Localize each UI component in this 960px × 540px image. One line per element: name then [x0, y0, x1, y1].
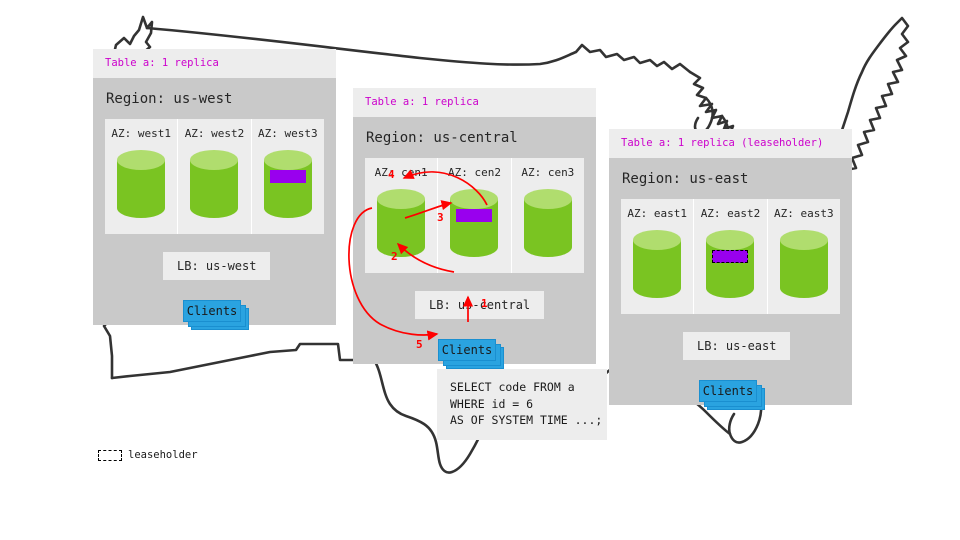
node-cylinder-east3: [778, 228, 830, 300]
az-cen2: AZ: cen2: [438, 158, 511, 273]
region-body-us-central: Region: us-central AZ: cen1 AZ:: [353, 117, 596, 364]
region-body-us-west: Region: us-west AZ: west1 AZ: we: [93, 78, 336, 325]
legend-leaseholder: leaseholder: [98, 449, 198, 461]
clients-label-us-east[interactable]: Clients: [699, 380, 757, 402]
node-cylinder-cen1: [375, 187, 427, 259]
legend-label: leaseholder: [128, 449, 198, 461]
clients-stack-us-west[interactable]: Clients: [183, 300, 249, 330]
node-cylinder-cen2: [448, 187, 500, 259]
az-label-east2: AZ: east2: [694, 207, 766, 220]
az-west2: AZ: west2: [178, 119, 251, 234]
region-panel-us-central: Table a: 1 replica Region: us-central AZ…: [353, 88, 596, 364]
node-cylinder-west3: [262, 148, 314, 220]
clients-label-us-central[interactable]: Clients: [438, 339, 496, 361]
load-balancer-us-east[interactable]: LB: us-east: [683, 332, 790, 360]
az-label-west3: AZ: west3: [252, 127, 324, 140]
node-cylinder-east2: [704, 228, 756, 300]
region-title-us-central: Region: us-central: [353, 117, 596, 158]
az-label-east1: AZ: east1: [621, 207, 693, 220]
node-cylinder-west1: [115, 148, 167, 220]
replica-marker-cen2: [456, 209, 492, 222]
region-body-us-east: Region: us-east AZ: east1 AZ: ea: [609, 158, 852, 405]
az-east3: AZ: east3: [768, 199, 840, 314]
az-label-cen2: AZ: cen2: [438, 166, 510, 179]
az-row-us-central: AZ: cen1 AZ: cen2: [365, 158, 584, 273]
arrow-label-1: 1: [481, 297, 488, 310]
arrow-label-4: 4: [388, 168, 395, 181]
region-banner-us-east: Table a: 1 replica (leaseholder): [609, 129, 852, 158]
replica-marker-west3: [270, 170, 306, 183]
region-banner-us-central: Table a: 1 replica: [353, 88, 596, 117]
clients-stack-us-central[interactable]: Clients: [438, 339, 504, 369]
az-label-west1: AZ: west1: [105, 127, 177, 140]
az-label-west2: AZ: west2: [178, 127, 250, 140]
load-balancer-us-central[interactable]: LB: us-central: [415, 291, 544, 319]
arrow-label-5: 5: [416, 338, 423, 351]
region-panel-us-west: Table a: 1 replica Region: us-west AZ: w…: [93, 49, 336, 325]
node-cylinder-cen3: [522, 187, 574, 259]
az-row-us-east: AZ: east1 AZ: east2: [621, 199, 840, 314]
az-east2: AZ: east2: [694, 199, 767, 314]
arrow-label-3: 3: [437, 211, 444, 224]
az-west3: AZ: west3: [252, 119, 324, 234]
load-balancer-us-west[interactable]: LB: us-west: [163, 252, 270, 280]
clients-stack-us-east[interactable]: Clients: [699, 380, 765, 410]
region-title-us-east: Region: us-east: [609, 158, 852, 199]
clients-label-us-west[interactable]: Clients: [183, 300, 241, 322]
az-label-cen1: AZ: cen1: [365, 166, 437, 179]
az-cen3: AZ: cen3: [512, 158, 584, 273]
az-west1: AZ: west1: [105, 119, 178, 234]
region-panel-us-east: Table a: 1 replica (leaseholder) Region:…: [609, 129, 852, 405]
sql-query-box: SELECT code FROM a WHERE id = 6 AS OF SY…: [437, 369, 607, 440]
arrow-label-2: 2: [391, 250, 398, 263]
az-row-us-west: AZ: west1 AZ: west2: [105, 119, 324, 234]
az-cen1: AZ: cen1: [365, 158, 438, 273]
az-east1: AZ: east1: [621, 199, 694, 314]
az-label-cen3: AZ: cen3: [512, 166, 584, 179]
region-title-us-west: Region: us-west: [93, 78, 336, 119]
node-cylinder-east1: [631, 228, 683, 300]
leaseholder-swatch-icon: [98, 450, 122, 461]
diagram-canvas: Table a: 1 replica Region: us-west AZ: w…: [0, 0, 960, 540]
az-label-east3: AZ: east3: [768, 207, 840, 220]
replica-marker-east2-leaseholder: [712, 250, 748, 263]
node-cylinder-west2: [188, 148, 240, 220]
region-banner-us-west: Table a: 1 replica: [93, 49, 336, 78]
